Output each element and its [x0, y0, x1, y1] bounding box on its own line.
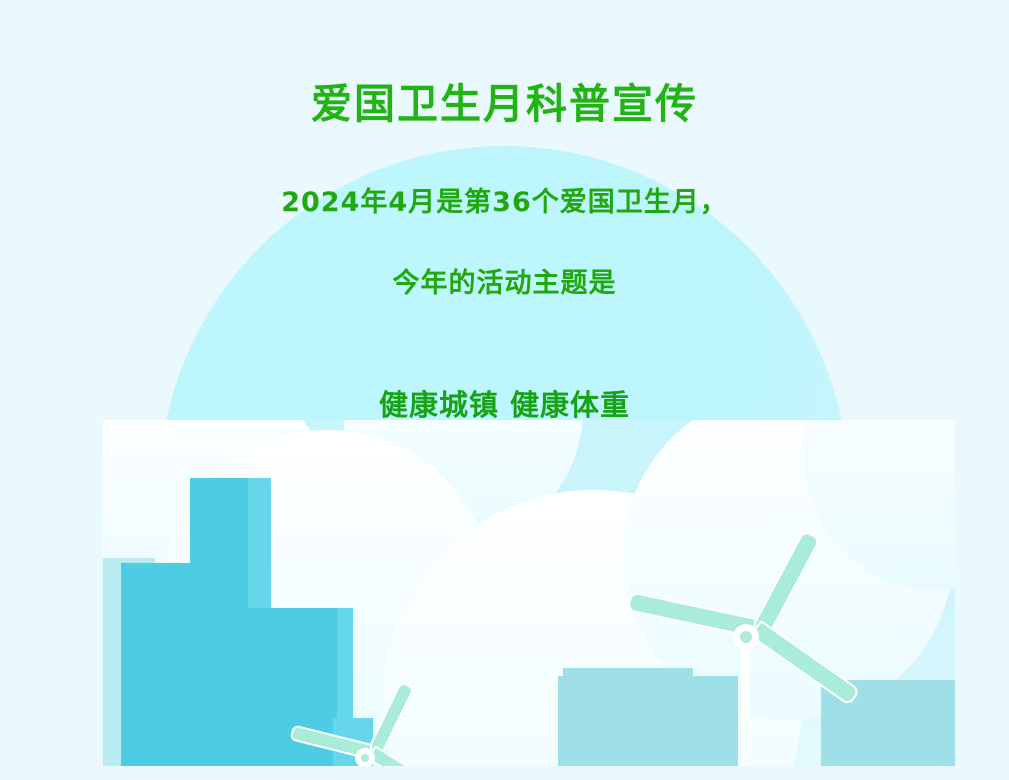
subtitle-line-2: 今年的活动主题是 [0, 261, 1009, 300]
subtitle-line-1: 2024年4月是第36个爱国卫生月， [0, 180, 1009, 219]
poster-canvas: 爱国卫生月科普宣传 2024年4月是第36个爱国卫生月， 今年的活动主题是 健康… [0, 0, 1009, 780]
campaign-theme: 健康城镇 健康体重 [0, 382, 1009, 424]
page-title: 爱国卫生月科普宣传 [0, 70, 1009, 130]
text-layer: 爱国卫生月科普宣传 2024年4月是第36个爱国卫生月， 今年的活动主题是 健康… [0, 0, 1009, 780]
